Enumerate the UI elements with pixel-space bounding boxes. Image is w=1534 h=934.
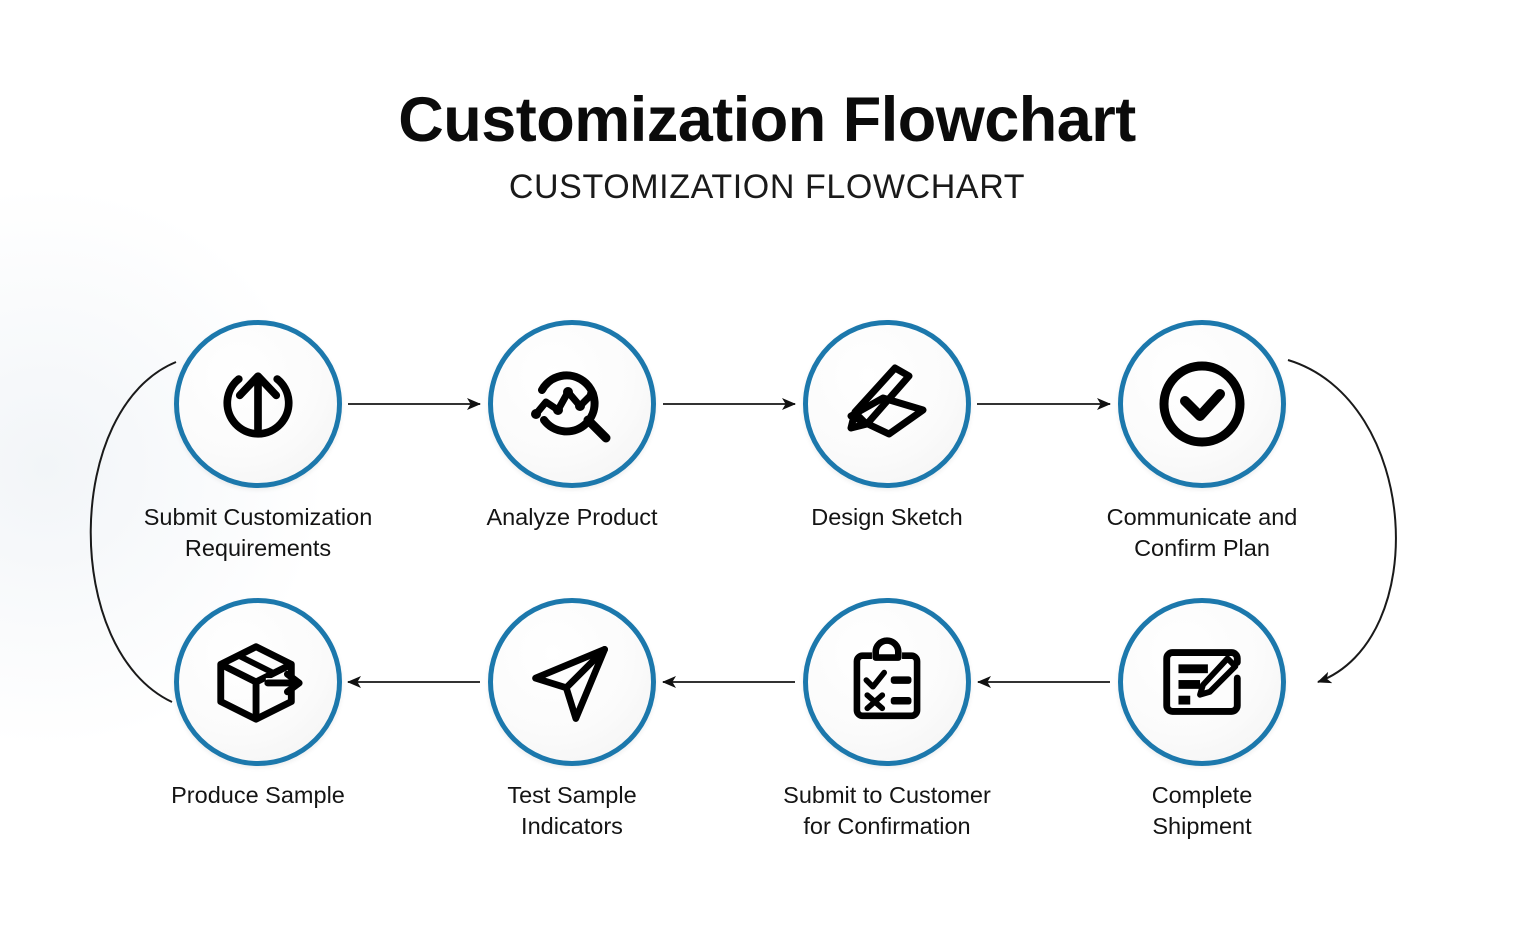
node-circle-wrap bbox=[488, 320, 656, 488]
paper-plane-send-icon bbox=[524, 634, 620, 730]
node-label: Complete Shipment bbox=[1077, 780, 1327, 843]
clipboard-check-cross-icon bbox=[840, 635, 934, 729]
node-circle bbox=[1118, 598, 1286, 766]
node-circle bbox=[803, 598, 971, 766]
node-submit-requirements[interactable]: Submit Customization Requirements bbox=[133, 320, 383, 565]
node-circle bbox=[174, 320, 342, 488]
node-produce-sample[interactable]: Produce Sample bbox=[133, 598, 383, 811]
node-circle bbox=[488, 598, 656, 766]
node-circle-wrap bbox=[803, 320, 971, 488]
form-edit-pencil-icon bbox=[1153, 633, 1251, 731]
node-design-sketch[interactable]: Design Sketch bbox=[762, 320, 1012, 533]
node-analyze-product[interactable]: Analyze Product bbox=[447, 320, 697, 533]
node-submit-to-customer[interactable]: Submit to Customer for Confirmation bbox=[762, 598, 1012, 843]
node-circle bbox=[174, 598, 342, 766]
header: Customization Flowchart CUSTOMIZATION FL… bbox=[0, 88, 1534, 207]
node-complete-shipment[interactable]: Complete Shipment bbox=[1077, 598, 1327, 843]
node-communicate-confirm-plan[interactable]: Communicate and Confirm Plan bbox=[1077, 320, 1327, 565]
node-label: Submit to Customer for Confirmation bbox=[762, 780, 1012, 843]
check-circle-icon bbox=[1152, 354, 1252, 454]
page-subtitle: CUSTOMIZATION FLOWCHART bbox=[0, 168, 1534, 207]
node-circle bbox=[488, 320, 656, 488]
node-circle-wrap bbox=[174, 598, 342, 766]
magnifier-chart-icon bbox=[522, 354, 622, 454]
node-circle-wrap bbox=[488, 598, 656, 766]
node-test-sample-indicators[interactable]: Test Sample Indicators bbox=[447, 598, 697, 843]
node-label: Analyze Product bbox=[447, 502, 697, 533]
node-circle bbox=[1118, 320, 1286, 488]
node-circle bbox=[803, 320, 971, 488]
node-circle-wrap bbox=[803, 598, 971, 766]
node-circle-wrap bbox=[1118, 598, 1286, 766]
node-label: Produce Sample bbox=[133, 780, 383, 811]
flowchart-canvas: Customization Flowchart CUSTOMIZATION FL… bbox=[0, 0, 1534, 934]
package-box-arrow-icon bbox=[209, 633, 307, 731]
page-title: Customization Flowchart bbox=[0, 88, 1534, 154]
pencil-sketch-sheet-icon bbox=[837, 354, 937, 454]
node-circle-wrap bbox=[174, 320, 342, 488]
node-label: Design Sketch bbox=[762, 502, 1012, 533]
node-label: Test Sample Indicators bbox=[447, 780, 697, 843]
node-label: Communicate and Confirm Plan bbox=[1077, 502, 1327, 565]
upload-circle-arrow-up-icon bbox=[210, 356, 306, 452]
node-label: Submit Customization Requirements bbox=[133, 502, 383, 565]
node-circle-wrap bbox=[1118, 320, 1286, 488]
